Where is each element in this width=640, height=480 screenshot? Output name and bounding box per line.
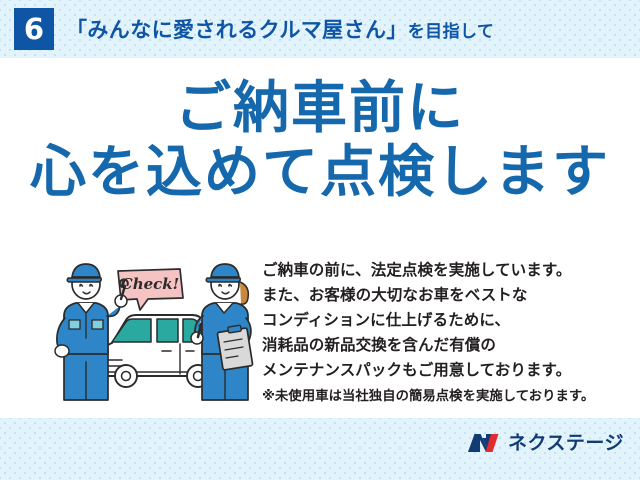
mechanics-illustration-svg: Check! xyxy=(52,258,262,403)
section-number-badge: 6 xyxy=(14,8,54,50)
brand-logo-text: ネクステージ xyxy=(508,431,624,455)
page-title: ご納車前に 心を込めて点検します xyxy=(0,80,640,202)
header-inner: 6 「みんなに愛されるクルマ屋さん」を目指して xyxy=(0,0,640,58)
description-block: ご納車の前に、法定点検を実施しています。 また、お客様の大切なお車をベストな コ… xyxy=(262,258,628,405)
headline-line-1: ご納車前に xyxy=(0,80,640,138)
brand-logo: ネクステージ xyxy=(467,430,624,456)
banner-header: 6 「みんなに愛されるクルマ屋さん」を目指して xyxy=(0,0,640,58)
description-line-4: 消耗品の新品交換を含んだ有償の xyxy=(262,333,628,358)
nextage-n-mark-icon xyxy=(467,431,501,455)
header-title-quoted: 「みんなに愛されるクルマ屋さん」 xyxy=(66,19,408,42)
description-line-1: ご納車の前に、法定点検を実施しています。 xyxy=(262,258,628,283)
inspection-promo-banner: 6 「みんなに愛されるクルマ屋さん」を目指して ご納車前に 心を込めて点検します xyxy=(0,0,640,480)
header-title: 「みんなに愛されるクルマ屋さん」を目指して xyxy=(66,14,494,44)
description-line-3: コンディションに仕上げるために、 xyxy=(262,308,628,333)
banner-footer: ネクステージ xyxy=(0,418,640,480)
mechanics-illustration: Check! xyxy=(52,258,262,403)
header-title-tail: を目指して xyxy=(408,22,495,41)
check-bubble-label: Check! xyxy=(121,275,180,293)
description-line-2: また、お客様の大切なお車をベストな xyxy=(262,283,628,308)
description-note: ※未使用車は当社独自の簡易点検を実施しております。 xyxy=(262,386,628,406)
headline-line-2: 心を込めて点検します xyxy=(0,144,640,202)
main-stage: ご納車前に 心を込めて点検します xyxy=(0,58,640,418)
description-line-5: メンテナンスパックもご用意しております。 xyxy=(262,358,628,383)
